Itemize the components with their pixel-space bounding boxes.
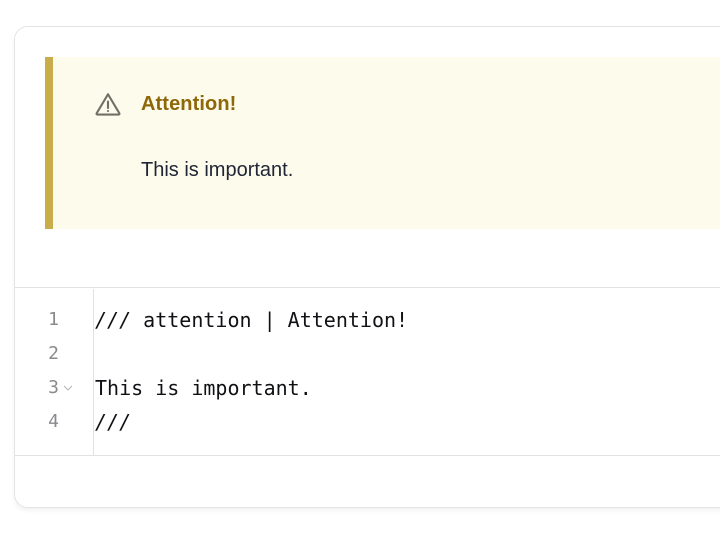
fold-slot-empty [59, 405, 77, 439]
line-number: 2 [48, 345, 59, 363]
code-line-text[interactable]: This is important. [79, 378, 720, 398]
code-token: This is important. [95, 376, 312, 400]
line-number-gutter: 2 [15, 337, 79, 371]
line-number: 4 [48, 413, 59, 431]
code-line[interactable]: 4/// [15, 405, 720, 439]
code-line-text[interactable]: /// attention | Attention! [79, 310, 720, 330]
card-footer [15, 457, 720, 507]
line-number-gutter: 4 [15, 405, 79, 439]
line-number: 3 [48, 379, 59, 397]
code-line[interactable]: 2 [15, 337, 720, 371]
chevron-down-icon [63, 383, 73, 393]
fold-slot-empty [59, 337, 77, 371]
warning-triangle-icon [93, 89, 123, 119]
code-line[interactable]: 1/// attention | Attention! [15, 303, 720, 337]
code-editor-pane[interactable]: 1/// attention | Attention!23This is imp… [15, 289, 720, 456]
code-token: /// [95, 410, 131, 434]
code-line-list: 1/// attention | Attention!23This is imp… [15, 303, 720, 439]
line-number-gutter: 3 [15, 371, 79, 405]
admonition-title: Attention! [141, 94, 236, 114]
admonition-header: Attention! [93, 89, 236, 119]
line-number-gutter: 1 [15, 303, 79, 337]
code-token: attention | Attention! [143, 308, 408, 332]
preview-pane: Attention! This is important. [15, 27, 720, 288]
code-token: /// [95, 308, 143, 332]
fold-toggle[interactable] [59, 371, 77, 405]
admonition-preview-card: Attention! This is important. 1/// atten… [14, 26, 720, 508]
admonition-attention: Attention! This is important. [45, 57, 720, 229]
admonition-body-text: This is important. [141, 157, 293, 183]
fold-slot-empty [59, 303, 77, 337]
line-number: 1 [48, 311, 59, 329]
code-line-text[interactable]: /// [79, 412, 720, 432]
code-line[interactable]: 3This is important. [15, 371, 720, 405]
